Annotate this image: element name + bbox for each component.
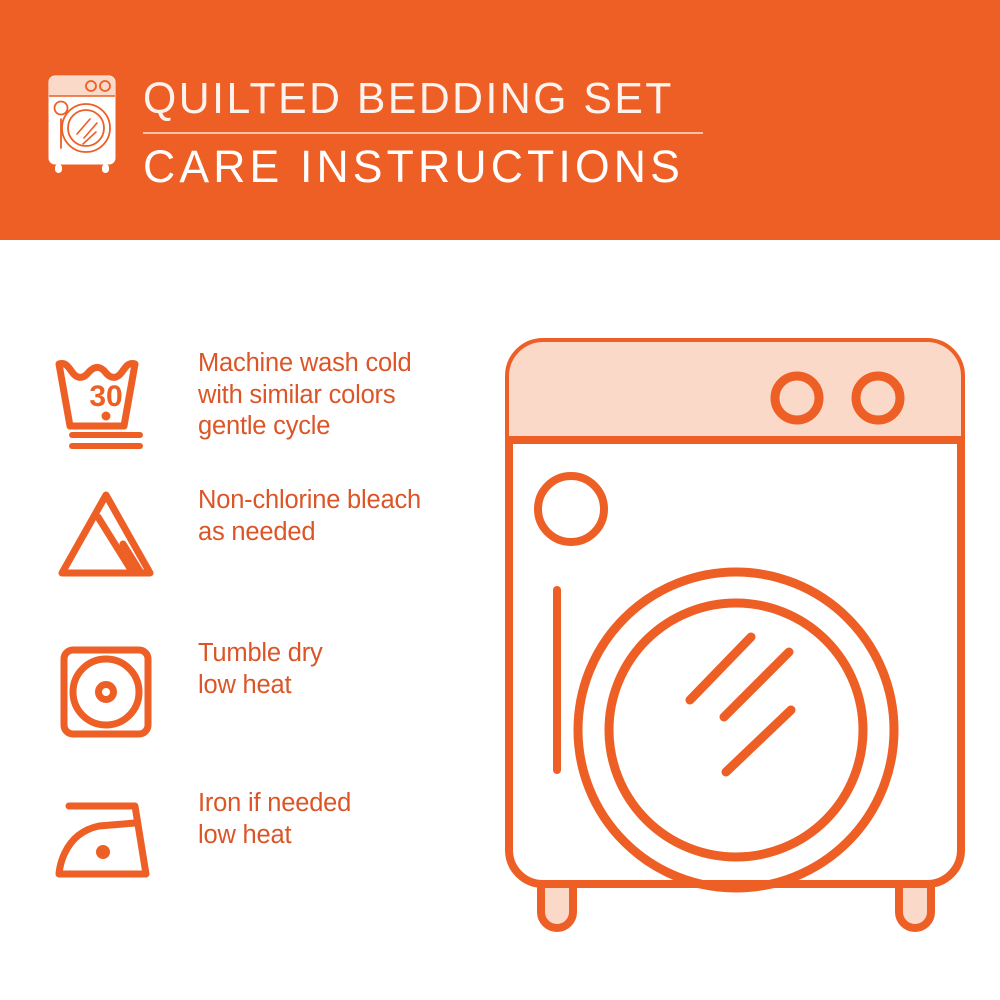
care-label-line: Tumble dry [198,638,466,670]
care-row-bleach: Non-chlorine bleach as needed [46,485,466,591]
care-label-line: low heat [198,670,466,702]
care-label-line: low heat [198,820,466,852]
page-title: QUILTED BEDDING SET [143,74,686,124]
care-label-bleach: Non-chlorine bleach as needed [166,485,466,548]
title-divider [143,132,703,134]
care-label-line: gentle cycle [198,411,466,443]
header-text-block: QUILTED BEDDING SET CARE INSTRUCTIONS [143,74,703,193]
care-label-machine-wash: Machine wash cold with similar colors ge… [166,348,466,443]
washing-machine-illustration [495,330,975,940]
care-row-tumble-dry: Tumble dry low heat [46,638,466,744]
care-label-line: Non-chlorine bleach [198,485,466,517]
tumble-dry-low-heat-icon [46,638,166,744]
triangle-non-chlorine-bleach-icon [46,485,166,591]
care-label-iron: Iron if needed low heat [166,788,466,851]
care-row-machine-wash: 30 Machine wash cold with similar colors… [46,348,466,454]
iron-low-heat-icon [46,788,166,894]
washing-machine-icon [46,72,118,176]
care-label-line: as needed [198,517,466,549]
care-label-line: Iron if needed [198,788,466,820]
wash-temperature-value: 30 [89,380,122,413]
care-row-iron: Iron if needed low heat [46,788,466,894]
care-label-line: with similar colors [198,380,466,412]
page-subtitle: CARE INSTRUCTIONS [143,141,697,193]
wash-tub-30-gentle-icon: 30 [46,348,166,454]
care-instructions-list: 30 Machine wash cold with similar colors… [0,240,470,1000]
machine-foot-left [541,884,573,928]
care-label-line: Machine wash cold [198,348,466,380]
machine-foot-right [899,884,931,928]
header-banner: QUILTED BEDDING SET CARE INSTRUCTIONS [0,0,1000,240]
care-label-tumble-dry: Tumble dry low heat [166,638,466,701]
